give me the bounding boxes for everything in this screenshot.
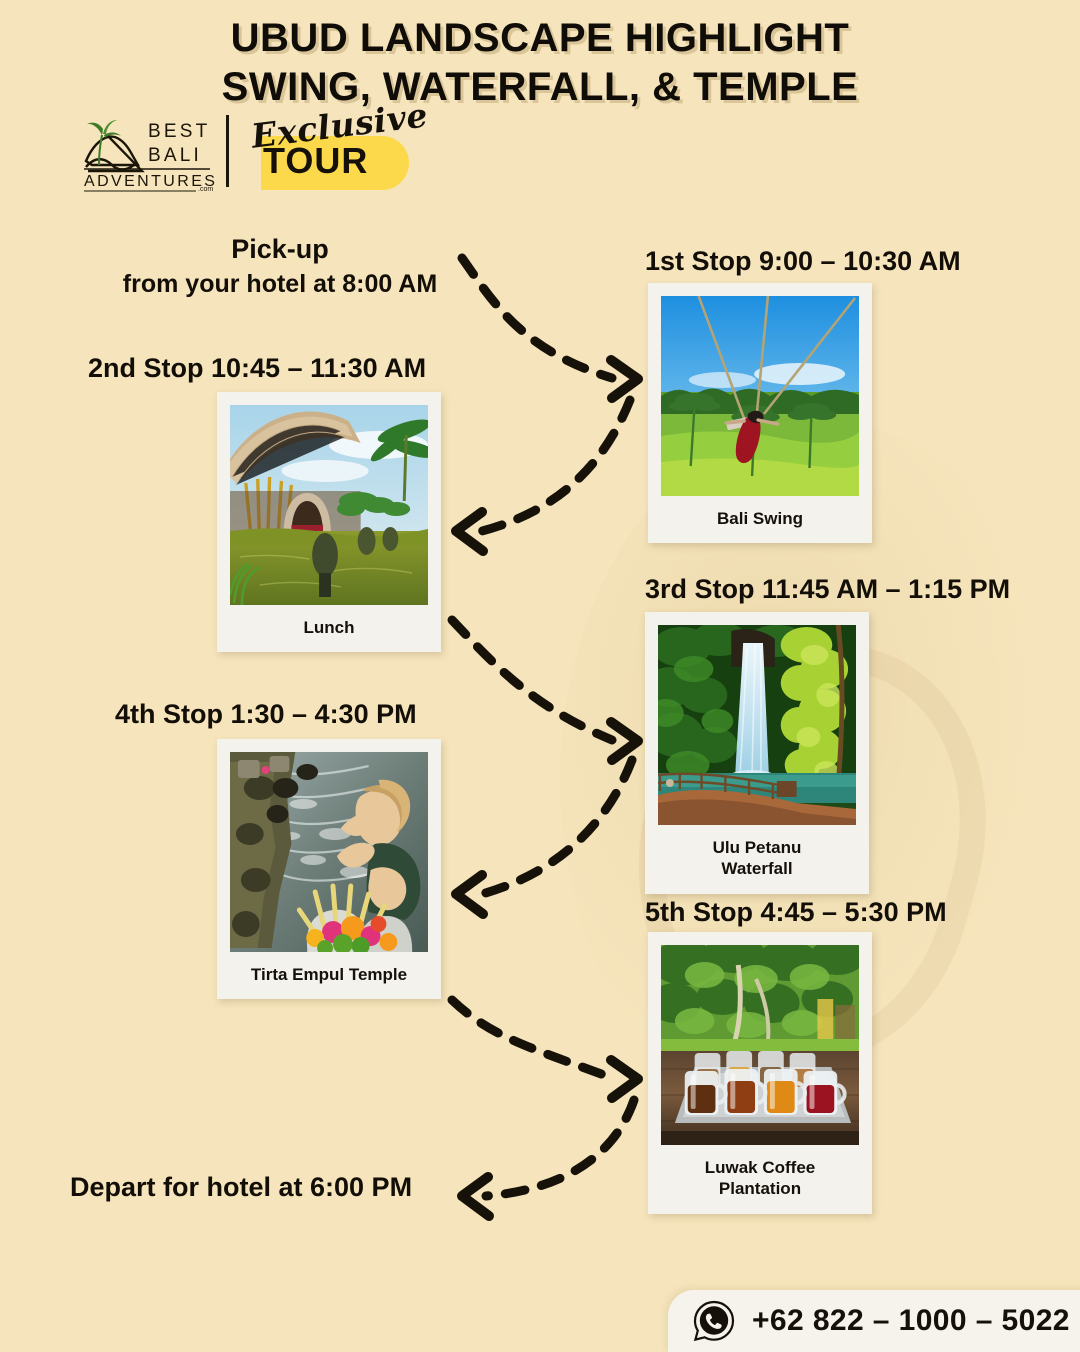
svg-text:BALI: BALI [148, 145, 202, 166]
stop-3-heading: 3rd Stop 11:45 AM – 1:15 PM [645, 572, 1010, 607]
stop-2-card[interactable]: Lunch [217, 392, 441, 652]
stop-2-heading: 2nd Stop 10:45 – 11:30 AM [88, 351, 426, 386]
stop-4-caption: Tirta Empul Temple [230, 952, 428, 999]
arrow-stop3-to-stop4 [482, 760, 632, 894]
arrowhead-to-stop5 [611, 1060, 638, 1098]
stop-2-caption: Lunch [230, 605, 428, 652]
logo-divider [226, 115, 229, 187]
tirta-empul-photo [230, 752, 428, 952]
title-line-2: SWING, WATERFALL, & TEMPLE [0, 63, 1080, 112]
stop-3-caption: Ulu Petanu Waterfall [658, 825, 856, 894]
tour-word-text: TOUR [263, 140, 368, 182]
stop-1-card[interactable]: Bali Swing [648, 283, 872, 543]
pickup-line-1: Pick-up [100, 232, 460, 268]
tour-itinerary-poster: UBUD LANDSCAPE HIGHLIGHT SWING, WATERFAL… [0, 0, 1080, 1350]
svg-text:BEST: BEST [148, 121, 210, 142]
stop-3-card[interactable]: Ulu Petanu Waterfall [645, 612, 869, 894]
stop-5-card[interactable]: Luwak Coffee Plantation [648, 932, 872, 1214]
arrowhead-to-stop3 [611, 722, 638, 760]
brand-logo: BEST BALI ADVENTURES .com Exclusive TOUR [78, 108, 403, 194]
arrow-stop5-to-depart [486, 1100, 634, 1196]
stop-5-caption-line-1: Luwak Coffee [663, 1157, 857, 1178]
logo-mark-icon: BEST BALI ADVENTURES .com [78, 109, 220, 193]
title-line-1: UBUD LANDSCAPE HIGHLIGHT [0, 14, 1080, 63]
arrow-stop1-to-stop2 [482, 400, 630, 531]
stop-3-caption-line-2: Waterfall [660, 858, 854, 879]
lunch-restaurant-photo [230, 405, 428, 605]
arrowhead-to-depart [462, 1177, 489, 1216]
arrow-pickup-to-stop1 [462, 258, 612, 378]
luwak-coffee-photo [661, 945, 859, 1145]
stop-5-caption: Luwak Coffee Plantation [661, 1145, 859, 1214]
page-title: UBUD LANDSCAPE HIGHLIGHT SWING, WATERFAL… [0, 14, 1080, 112]
bali-swing-photo [661, 296, 859, 496]
stop-1-heading: 1st Stop 9:00 – 10:30 AM [645, 244, 961, 279]
stop-5-heading: 5th Stop 4:45 – 5:30 PM [645, 895, 947, 930]
svg-text:.com: .com [198, 186, 213, 193]
arrow-stop4-to-stop5 [452, 1000, 612, 1078]
stop-5-caption-line-2: Plantation [663, 1178, 857, 1199]
pickup-note: Pick-up from your hotel at 8:00 AM [100, 232, 460, 301]
pickup-line-2: from your hotel at 8:00 AM [100, 268, 460, 301]
whatsapp-icon[interactable] [692, 1299, 736, 1343]
phone-number[interactable]: +62 822 – 1000 – 5022 [752, 1304, 1070, 1338]
arrowhead-to-stop2 [456, 512, 483, 551]
stop-4-heading: 4th Stop 1:30 – 4:30 PM [115, 697, 417, 732]
flow-arrows [0, 0, 1080, 1350]
stop-3-caption-line-1: Ulu Petanu [660, 837, 854, 858]
arrowhead-to-stop1 [611, 360, 638, 398]
contact-banner[interactable]: +62 822 – 1000 – 5022 [668, 1290, 1080, 1352]
waterfall-photo [658, 625, 856, 825]
stop-1-caption: Bali Swing [661, 496, 859, 543]
arrowhead-to-stop4 [456, 875, 483, 914]
depart-text: Depart for hotel at 6:00 PM [70, 1172, 412, 1203]
arrow-stop2-to-stop3 [452, 620, 612, 740]
stop-4-card[interactable]: Tirta Empul Temple [217, 739, 441, 999]
exclusive-tour-badge: Exclusive TOUR [243, 110, 403, 192]
